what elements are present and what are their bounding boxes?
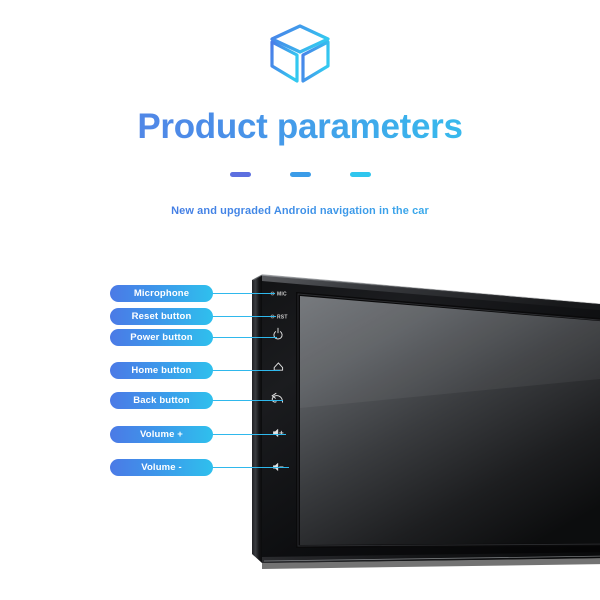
- callout-volume-up-leader-line: [203, 434, 286, 435]
- svg-text:MIC: MIC: [277, 291, 287, 297]
- infographic-canvas: Product parameters New and upgraded Andr…: [0, 0, 600, 600]
- callout-reset-button: Reset button: [110, 308, 276, 325]
- svg-text:RST: RST: [277, 314, 288, 320]
- cube-3d-icon: [265, 21, 335, 87]
- callout-back-button-pill[interactable]: Back button: [110, 392, 213, 409]
- callout-reset-button-pill[interactable]: Reset button: [110, 308, 213, 325]
- logo-container: [0, 20, 600, 88]
- callout-microphone-leader-line: [203, 293, 275, 294]
- callout-volume-up: Volume +: [110, 426, 286, 443]
- divider-dashes: [0, 172, 600, 177]
- callout-power-button-leader-line: [203, 337, 277, 338]
- callout-home-button-pill[interactable]: Home button: [110, 362, 213, 379]
- callout-microphone: Microphone: [110, 285, 275, 302]
- callout-reset-button-leader-line: [203, 316, 276, 317]
- callout-volume-down-pill[interactable]: Volume -: [110, 459, 213, 476]
- callout-volume-up-pill[interactable]: Volume +: [110, 426, 213, 443]
- callout-home-button: Home button: [110, 362, 280, 379]
- callout-back-button: Back button: [110, 392, 283, 409]
- divider-dash-1: [230, 172, 251, 177]
- product-image-head-unit: MIC RST: [240, 258, 600, 588]
- callout-microphone-pill[interactable]: Microphone: [110, 285, 213, 302]
- page-title: Product parameters: [0, 104, 600, 150]
- callout-volume-down: Volume -: [110, 459, 289, 476]
- divider-dash-2: [290, 172, 311, 177]
- callout-power-button: Power button: [110, 329, 277, 346]
- page-subtitle: New and upgraded Android navigation in t…: [0, 205, 600, 217]
- callout-power-button-pill[interactable]: Power button: [110, 329, 213, 346]
- callout-home-button-leader-line: [203, 370, 280, 371]
- callout-back-button-leader-line: [203, 400, 283, 401]
- divider-dash-3: [350, 172, 371, 177]
- callout-volume-down-leader-line: [203, 467, 289, 468]
